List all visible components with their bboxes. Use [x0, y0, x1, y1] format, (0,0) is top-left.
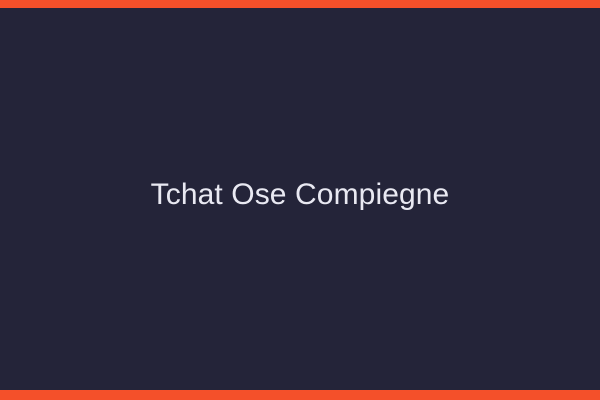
card-body: Tchat Ose Compiegne: [0, 8, 600, 390]
placeholder-card: Tchat Ose Compiegne: [0, 0, 600, 400]
bottom-accent-bar: [0, 390, 600, 400]
page-title: Tchat Ose Compiegne: [135, 177, 466, 213]
top-accent-bar: [0, 0, 600, 8]
